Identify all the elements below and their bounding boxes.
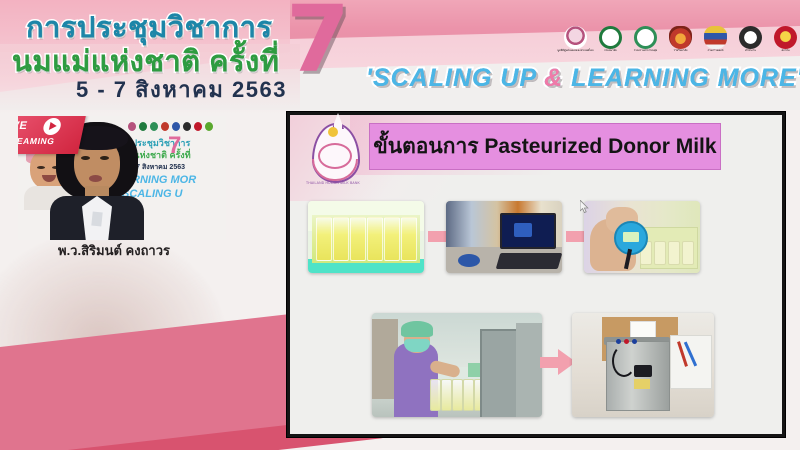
ph3-bottle	[668, 241, 680, 265]
milk-bank-logo-caption: THAILAND HUMAN MILK BANK	[302, 181, 364, 185]
ph4-bottle	[452, 379, 463, 411]
speaker-mouth	[89, 175, 102, 182]
speaker-name-caption: พ.ว.สิริมนต์ คงถาวร	[58, 240, 170, 261]
laptop-workstation-photo	[446, 201, 562, 273]
ph1-jar	[350, 217, 366, 261]
royal-patronage-emblem-icon	[564, 26, 587, 49]
ph1-jar	[333, 217, 349, 261]
backdrop-logo-icon-2	[150, 122, 158, 131]
royal-crest-multicolor-icon	[704, 26, 727, 49]
backdrop-logo-icon-6	[194, 122, 202, 131]
ph5-knob	[616, 339, 621, 344]
royal-crest-orange-icon	[669, 26, 692, 49]
arrow-step4-to-step5	[540, 349, 576, 375]
subtitle-part1: 'SCALING UP	[366, 64, 544, 92]
mouse-pointer-icon	[580, 200, 590, 214]
ph5-whiteboard	[670, 335, 712, 389]
ministry-public-health-logo-icon	[599, 26, 622, 49]
dark-circle-emblem-icon	[739, 26, 762, 49]
live-streaming-badge: VE TREAMING	[18, 116, 86, 154]
sponsor-logo-strip: มูลนิธิศูนย์นมแม่แห่งประเทศไทย กรมอนามัย…	[562, 26, 800, 58]
sponsor-logo-2-caption: กระทรวงสาธารณสุข	[634, 50, 657, 53]
sponsor-logo-2: กระทรวงสาธารณสุข	[632, 26, 659, 58]
backdrop-logo-icon-4	[172, 122, 180, 131]
child-photo-eye-left	[37, 166, 45, 169]
ph1-jar	[367, 217, 383, 261]
ph4-bottle	[430, 379, 441, 411]
ph2-laptop-screen	[500, 213, 556, 249]
sponsor-logo-4: กรมการแพทย์	[702, 26, 729, 58]
sponsor-logo-3: ราชวิทยาลัย	[667, 26, 694, 58]
backdrop-logo-icon-5	[183, 122, 191, 131]
milk-drop-dot	[328, 127, 338, 137]
arrow-shaft	[428, 231, 448, 242]
thai-human-milk-bank-logo: THAILAND HUMAN MILK BANK	[302, 121, 364, 195]
ph5-knob	[632, 339, 637, 344]
sponsor-logo-6: สถาบัน	[772, 26, 799, 58]
presentation-slide[interactable]: THAILAND HUMAN MILK BANK ขั้นตอนการ Past…	[287, 112, 785, 437]
sponsor-logo-0-caption: มูลนิธิศูนย์นมแม่แห่งประเทศไทย	[557, 50, 593, 53]
red-circle-emblem-icon	[774, 26, 797, 49]
ph4-nurse-surgical-cap	[401, 321, 433, 337]
speaker-necktie	[91, 212, 102, 227]
subtitle-ampersand: &	[544, 64, 563, 92]
ph5-control-panel	[634, 365, 652, 377]
ph4-bottle	[441, 379, 452, 411]
speaker-eye-left	[81, 156, 90, 160]
ph3-bottle	[682, 241, 694, 265]
subtitle-part2: LEARNING MORE'	[563, 64, 800, 92]
slide-title-box: ขั้นตอนการ Pasteurized Donor Milk	[369, 123, 721, 170]
broadcast-screen: การประชุมวิชาการ การประชุมวิชาการ นมแม่แ…	[0, 0, 800, 450]
backdrop-logo-icon-7	[205, 122, 213, 131]
sponsor-logo-1: กรมอนามัย	[597, 26, 624, 58]
slide-title-text: ขั้นตอนการ Pasteurized Donor Milk	[373, 130, 716, 163]
backdrop-logo-icon-3	[161, 122, 169, 131]
digital-timer-photo	[584, 201, 700, 273]
ph4-pasteurizer-body	[516, 323, 542, 417]
ph4-bottle-group	[430, 375, 486, 411]
health-department-logo-icon	[634, 26, 657, 49]
ph2-mouse	[458, 254, 480, 267]
speaker-eye-right	[100, 156, 109, 160]
edition-number-badge: 7	[286, 0, 350, 86]
milk-bottle-racks-photo	[308, 201, 424, 273]
live-badge-label: VE	[18, 120, 29, 132]
sponsor-logo-5: สำนักงาน	[737, 26, 764, 58]
streaming-badge-label: TREAMING	[18, 136, 56, 146]
conference-date: 5 - 7 สิงหาคม 2563	[76, 72, 287, 107]
ph5-knob	[624, 339, 629, 344]
ph2-laptop-keyboard	[496, 253, 562, 269]
nurse-loading-pasteurizer-photo	[372, 313, 542, 417]
sponsor-logo-5-caption: สำนักงาน	[745, 50, 756, 53]
backdrop-edition-number: 7	[168, 134, 181, 158]
ph5-power-cord	[612, 345, 636, 377]
ph4-nurse-face-mask	[404, 339, 430, 352]
ph4-pasteurizer-door	[480, 329, 518, 417]
ph1-jar	[401, 217, 417, 261]
ph1-jar	[316, 217, 332, 261]
speaker-video-inset[interactable]: การประชุมวิชาการ นมแม่แห่งชาติ ครั้งที่ …	[18, 116, 226, 240]
ph1-jar	[384, 217, 400, 261]
conference-subtitle: 'SCALING UP & LEARNING MORE'	[366, 64, 800, 93]
sponsor-logo-4-caption: กรมการแพทย์	[708, 50, 724, 53]
arrow-shaft	[540, 357, 560, 368]
sponsor-logo-1-caption: กรมอนามัย	[604, 50, 617, 53]
sponsor-logo-3-caption: ราชวิทยาลัย	[674, 50, 688, 53]
sponsor-logo-0: มูลนิธิศูนย์นมแม่แห่งประเทศไทย	[562, 26, 589, 58]
ph5-machine-label	[634, 379, 650, 389]
play-icon	[42, 118, 63, 135]
ph3-bottle	[654, 241, 666, 265]
pasteurizer-machine-photo	[572, 313, 714, 417]
arrow-shaft	[566, 231, 586, 242]
ph4-bottle	[463, 379, 474, 411]
sponsor-logo-6-caption: สถาบัน	[781, 50, 789, 53]
